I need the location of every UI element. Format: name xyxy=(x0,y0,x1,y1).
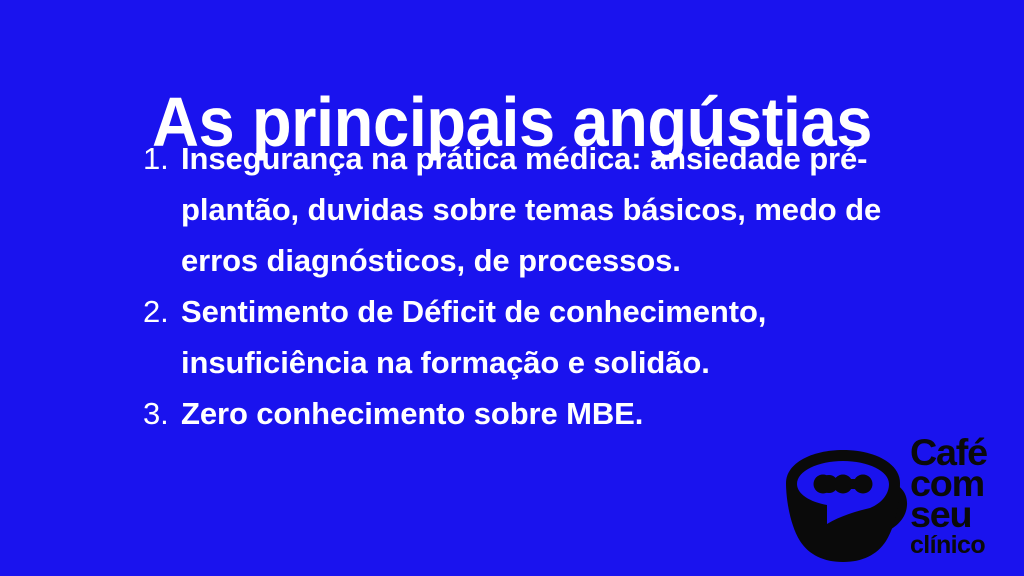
brand-logo: Café com seu clínico xyxy=(782,437,1018,573)
logo-wordmark: Café com seu clínico xyxy=(910,437,1018,573)
coffee-cup-speech-bubble-icon xyxy=(782,439,910,567)
list-item: 2. Sentimento de Déficit de conhecimento… xyxy=(143,286,933,388)
list-item-text: Sentimento de Déficit de conhecimento, i… xyxy=(181,286,933,388)
list-item-number: 1. xyxy=(143,133,177,184)
list-item-number: 3. xyxy=(143,388,177,439)
presentation-slide: As principais angústias 1. Insegurança n… xyxy=(0,0,1024,576)
list-item: 3. Zero conhecimento sobre MBE. xyxy=(143,388,933,439)
logo-wordmark-line-3: seu xyxy=(910,499,1020,530)
bullet-list: 1. Insegurança na prática médica: ansied… xyxy=(143,133,933,439)
list-item-text: Zero conhecimento sobre MBE. xyxy=(181,388,933,439)
list-item: 1. Insegurança na prática médica: ansied… xyxy=(143,133,933,286)
list-item-number: 2. xyxy=(143,286,177,337)
list-item-text: Insegurança na prática médica: ansiedade… xyxy=(181,133,933,286)
